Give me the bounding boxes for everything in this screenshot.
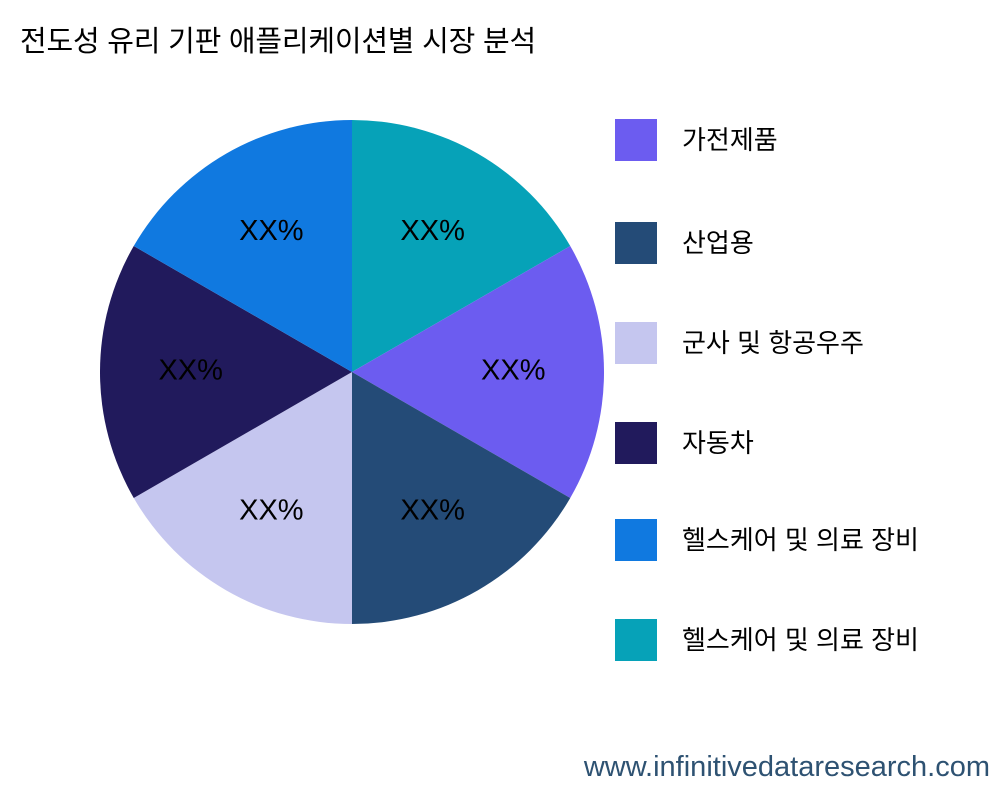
page-title: 전도성 유리 기판 애플리케이션별 시장 분석 (20, 22, 536, 62)
pie-slice-label: XX% (158, 355, 222, 387)
pie-slice-label: XX% (400, 494, 464, 526)
watermark-url: www.infinitivedataresearch.com (584, 751, 990, 784)
pie-slice-label: XX% (400, 215, 464, 247)
legend-item[interactable]: 헬스케어 및 의료 장비 (615, 518, 919, 562)
legend-item[interactable]: 가전제품 (615, 118, 778, 162)
legend-item[interactable]: 산업용 (615, 221, 754, 265)
legend-item[interactable]: 헬스케어 및 의료 장비 (615, 618, 919, 662)
pie-chart-svg: XX%XX%XX%XX%XX%XX% (100, 120, 604, 624)
pie-slice-label: XX% (239, 215, 303, 247)
legend-color-swatch (615, 519, 657, 561)
legend-item-label: 산업용 (682, 228, 754, 258)
legend-item-label: 가전제품 (682, 125, 778, 155)
legend-item-label: 군사 및 항공우주 (682, 328, 864, 358)
legend-color-swatch (615, 222, 657, 264)
legend-color-swatch (615, 119, 657, 161)
pie-chart: XX%XX%XX%XX%XX%XX% (100, 120, 604, 624)
legend-item-label: 헬스케어 및 의료 장비 (682, 525, 919, 555)
legend-item[interactable]: 군사 및 항공우주 (615, 321, 864, 365)
legend-color-swatch (615, 619, 657, 661)
pie-slice-label: XX% (239, 494, 303, 526)
legend-color-swatch (615, 422, 657, 464)
pie-slice-label: XX% (481, 355, 545, 387)
legend-item[interactable]: 자동차 (615, 421, 754, 465)
legend-item-label: 헬스케어 및 의료 장비 (682, 625, 919, 655)
legend-item-label: 자동차 (682, 428, 754, 458)
legend-color-swatch (615, 322, 657, 364)
